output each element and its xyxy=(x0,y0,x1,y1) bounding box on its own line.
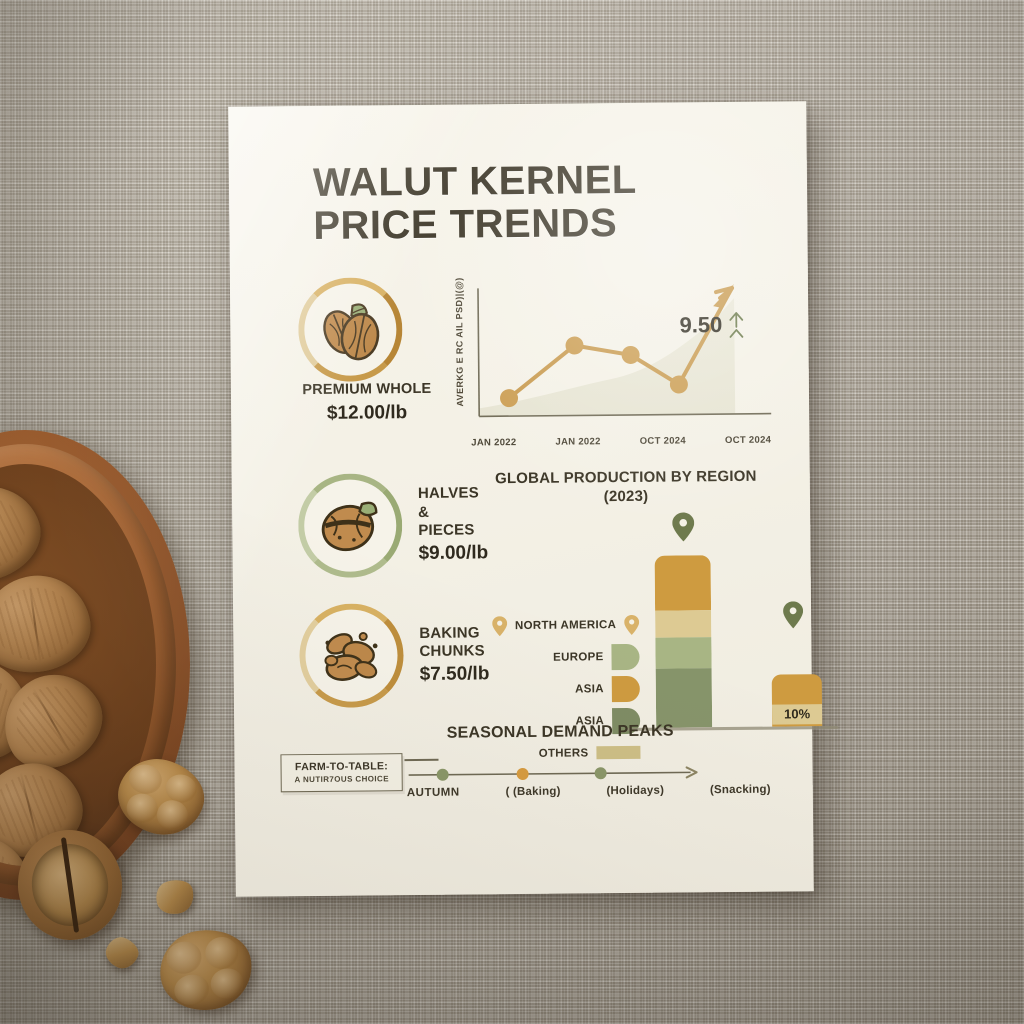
legend-label: NORTH AMERICA xyxy=(515,619,616,632)
timeline-label-holidays: (Holidays) xyxy=(606,785,664,798)
page-title: WALUT KERNEL PRICE TRENDS xyxy=(313,158,762,249)
product-ring-halves-pieces xyxy=(298,474,403,579)
infographic-poster: WALUT KERNEL PRICE TRENDS xyxy=(228,101,814,897)
product-ring-baking-chunks xyxy=(299,604,404,709)
bar-segment-north-america xyxy=(655,555,712,611)
timeline-axis xyxy=(405,762,705,785)
product-label-line-1: BAKING xyxy=(419,624,489,643)
timeline-label-baking: ( (Baking) xyxy=(505,786,560,799)
middle-section: HALVES & PIECES $9.00/lb xyxy=(278,470,767,742)
production-title-line-1: GLOBAL PRODUCTION BY REGION xyxy=(488,468,764,489)
trend-up-arrow-icon xyxy=(726,310,746,340)
stacked-bar-global[interactable] xyxy=(655,555,713,728)
farm-to-table-badge[interactable]: FARM-TO-TABLE: A NUTIR7OUS CHOICE xyxy=(280,753,402,792)
top-section: PREMIUM WHOLE $12.00/lb AVERKG E RC AIL … xyxy=(276,274,764,449)
x-tick-label: OCT 2024 xyxy=(640,436,686,447)
bar-segment-asia-1 xyxy=(655,638,711,669)
production-chart-title: GLOBAL PRODUCTION BY REGION (2023) xyxy=(488,468,764,508)
timeline-labels: AUTUMN ( (Baking) (Holidays) (Snacking) xyxy=(405,784,773,800)
legend-label: EUROPE xyxy=(553,651,603,663)
product-ring-premium-whole xyxy=(298,278,403,383)
bar-others[interactable]: 10% xyxy=(772,674,822,726)
seasonal-title: SEASONAL DEMAND PEAKS xyxy=(348,722,772,744)
map-pin-icon xyxy=(672,512,694,546)
product-card-halves-pieces[interactable]: HALVES & PIECES $9.00/lb xyxy=(298,473,487,579)
end-value-number: 9.50 xyxy=(679,312,722,338)
product-card-premium-whole[interactable]: PREMIUM WHOLE $12.00/lb xyxy=(276,277,437,449)
legend-label: ASIA xyxy=(575,683,604,695)
timeline-label-snacking: (Snacking) xyxy=(710,784,771,797)
product-price: $12.00/lb xyxy=(297,402,437,425)
walnut-chunks-icon xyxy=(313,618,390,695)
price-trend-line-chart: AVERKG E RC AIL PSD)|(@) xyxy=(452,274,764,447)
timeline-dot-autumn xyxy=(437,769,449,781)
walnut-half-icon xyxy=(312,488,389,565)
product-card-baking-chunks[interactable]: BAKING CHUNKS $7.50/lb xyxy=(299,603,488,709)
timeline-dot-baking xyxy=(517,768,529,780)
legend-item-north-america[interactable]: NORTH AMERICA xyxy=(489,609,639,642)
badge-subtext: A NUTIR7OUS CHOICE xyxy=(291,774,393,784)
product-price: $9.00/lb xyxy=(418,543,488,566)
x-tick-label: JAN 2022 xyxy=(555,437,600,448)
legend-item-europe[interactable]: EUROPE xyxy=(489,641,639,674)
timeline-label-autumn: AUTUMN xyxy=(407,787,460,800)
badge-connector-line xyxy=(404,759,438,761)
product-label-line-2: CHUNKS xyxy=(419,642,489,661)
whole-walnut-with-leaf-icon xyxy=(312,292,389,369)
title-line-2: PRICE TRENDS xyxy=(313,201,761,248)
seasonal-timeline: AUTUMN ( (Baking) (Holidays) (Snacking) xyxy=(404,750,772,800)
product-label-line-2: & PIECES xyxy=(418,503,488,540)
product-label-line-1: HALVES xyxy=(418,485,488,504)
x-tick-label: JAN 2022 xyxy=(471,437,516,448)
x-tick-label: OCT 2024 xyxy=(725,435,771,446)
production-bars: 10% xyxy=(630,515,832,731)
legend-item-asia-1[interactable]: ASIA xyxy=(490,673,640,706)
map-pin-icon xyxy=(783,601,803,633)
timeline-dot-holidays xyxy=(595,767,607,779)
production-title-line-2: (2023) xyxy=(488,487,764,508)
line-chart-x-tick-labels: JAN 2022 JAN 2022 OCT 2024 OCT 2024 xyxy=(471,435,771,449)
bar-segment-asia-2 xyxy=(656,669,713,728)
line-chart-plot xyxy=(470,274,784,435)
seasonal-section: SEASONAL DEMAND PEAKS FARM-TO-TABLE: A N… xyxy=(280,722,773,801)
bar-value-label: 10% xyxy=(772,704,822,724)
product-label: PREMIUM WHOLE xyxy=(297,381,437,400)
global-production-chart: GLOBAL PRODUCTION BY REGION (2023) xyxy=(488,470,767,740)
product-list: HALVES & PIECES $9.00/lb xyxy=(278,473,489,742)
title-line-1: WALUT KERNEL xyxy=(313,158,761,205)
bar-segment-europe xyxy=(655,610,711,638)
badge-heading: FARM-TO-TABLE: xyxy=(291,760,393,773)
product-price: $7.50/lb xyxy=(420,663,490,686)
line-chart-y-axis-label: AVERKG E RC AIL PSD)|(@) xyxy=(454,281,465,407)
map-pin-icon xyxy=(492,616,507,636)
line-chart-end-value: 9.50 xyxy=(679,310,746,341)
